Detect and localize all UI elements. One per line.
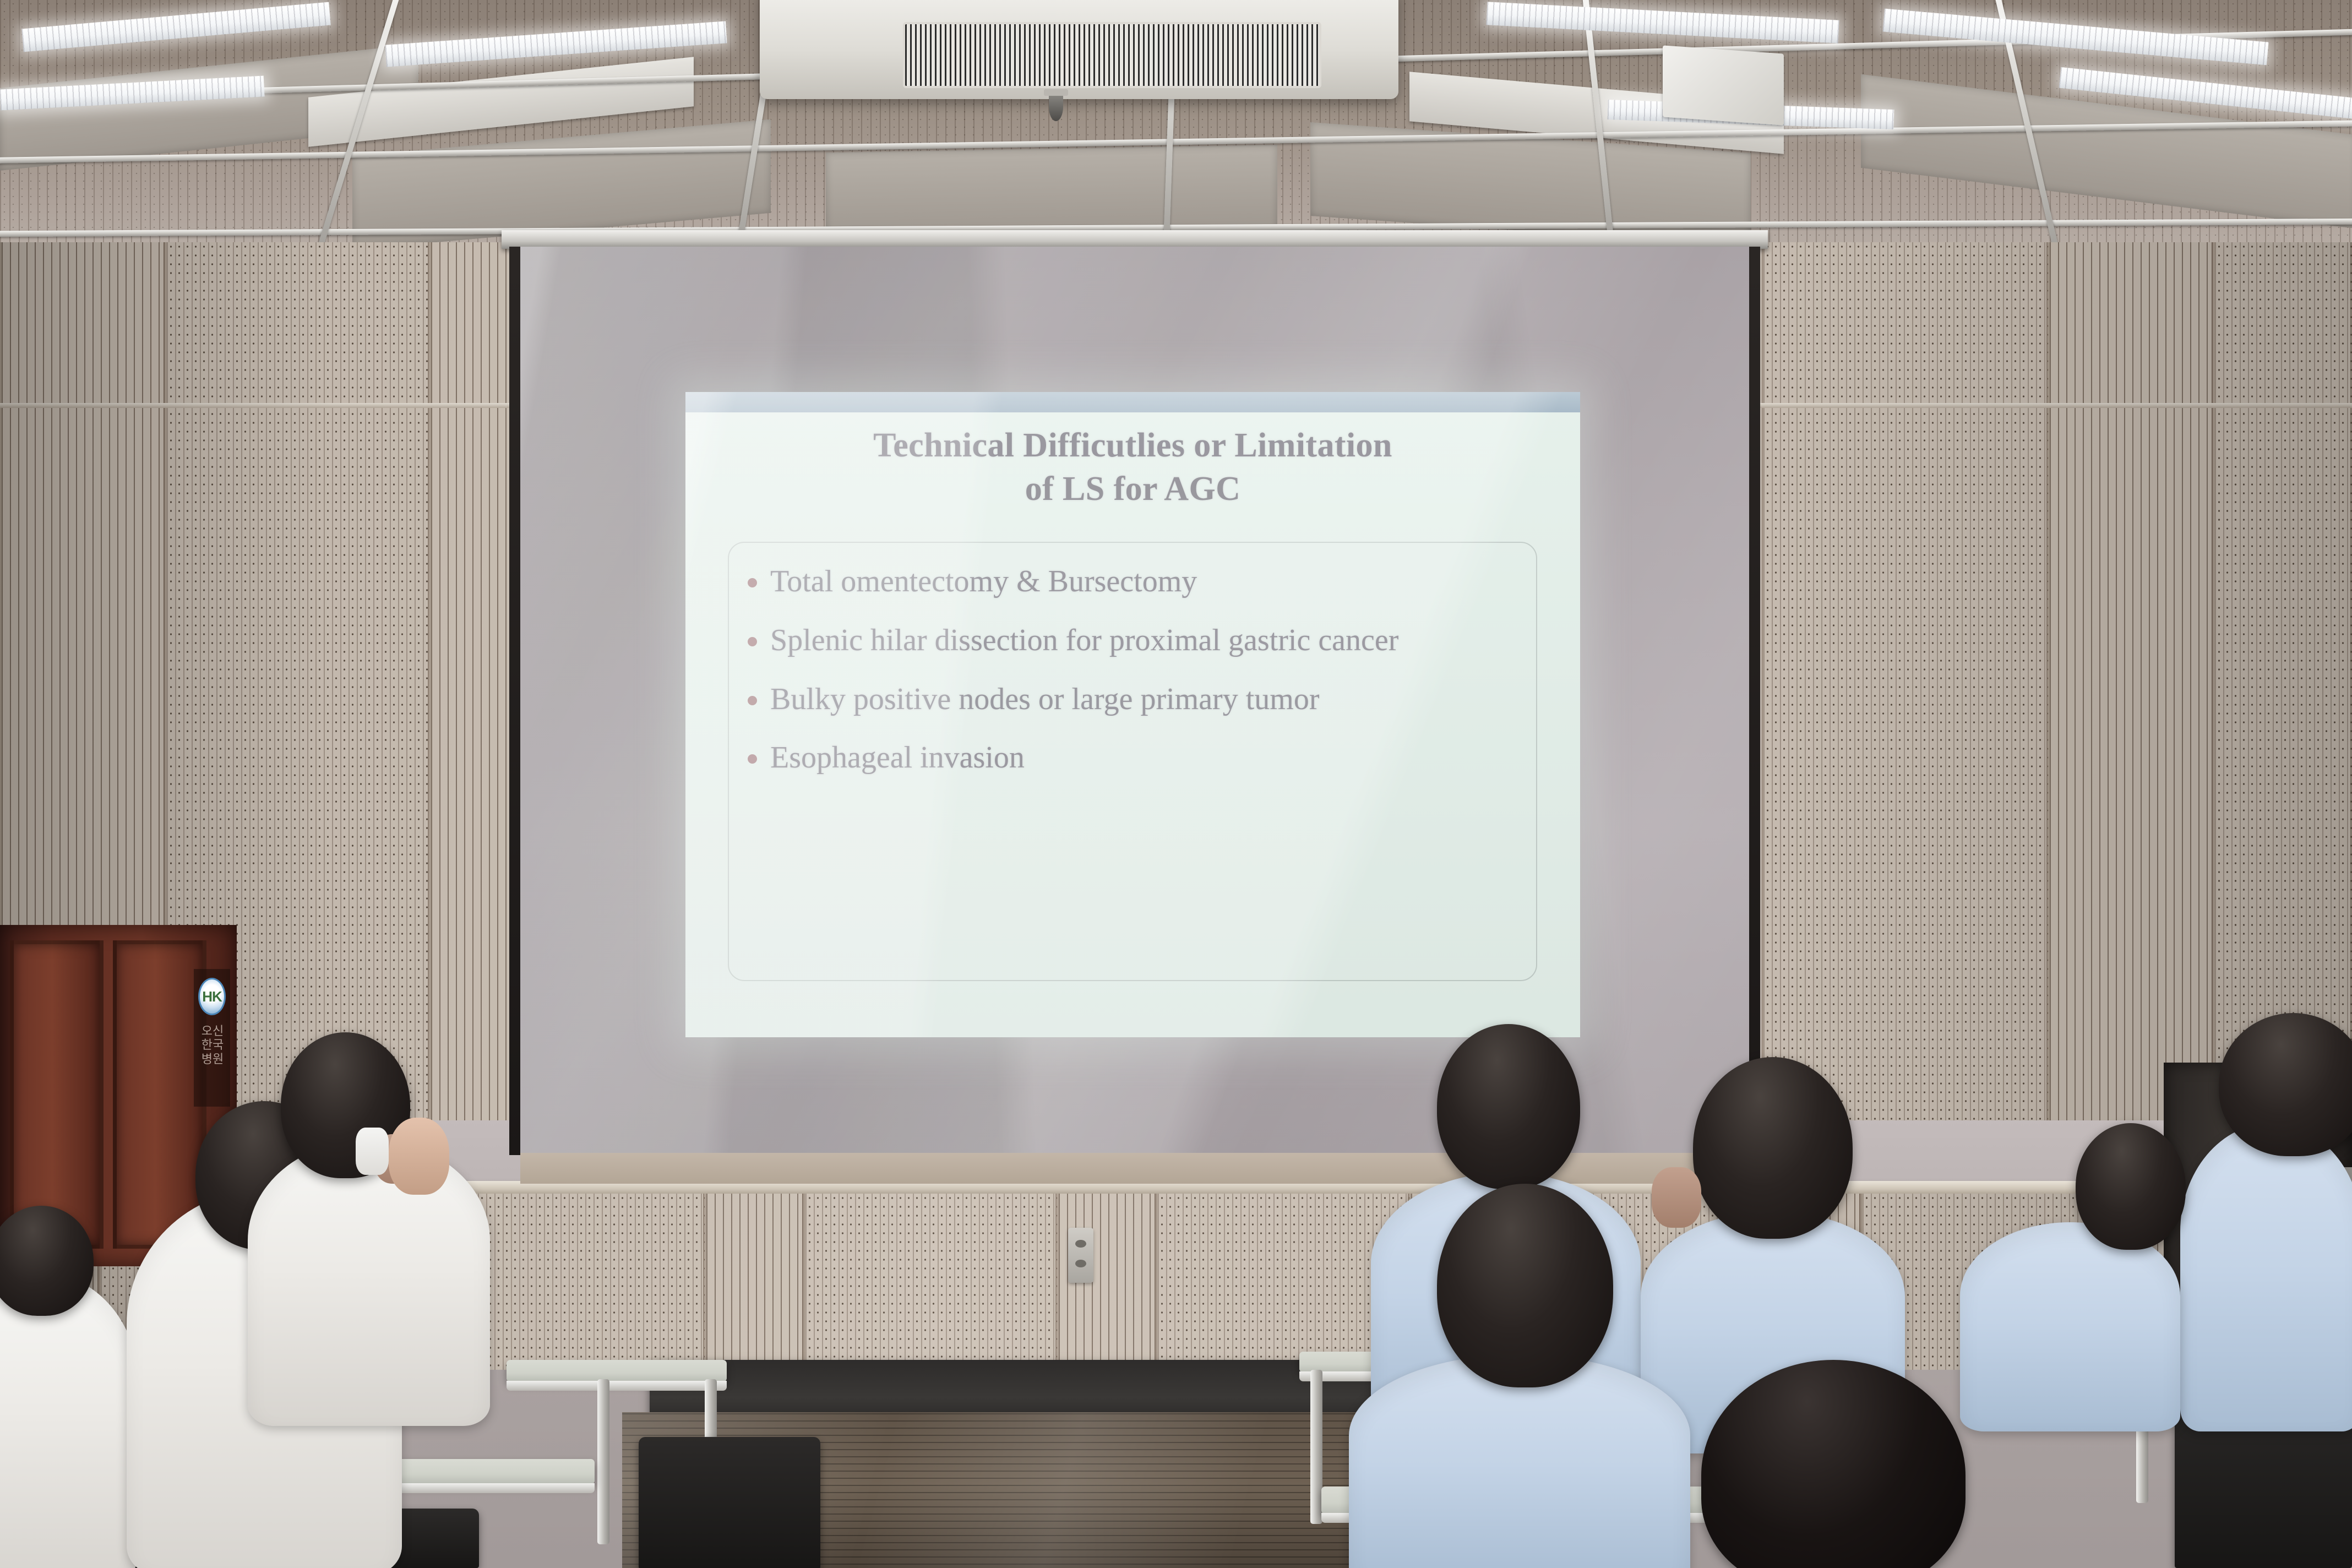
projected-slide: Technical Difficutlies or Limitation of … [685,392,1580,1037]
audience-member [0,1173,138,1568]
torso-white-coat [248,1140,490,1426]
list-item: Esophageal invasion [744,738,1513,778]
desk-leg [1310,1370,1322,1524]
audience-member [1960,1074,2180,1426]
power-outlet-icon [1068,1228,1093,1283]
slide-content-box: Total omentectomy & Bursectomy Splenic h… [728,542,1537,981]
bullet-text: Bulky positive nodes or large primary tu… [770,679,1513,720]
audience-member [2180,986,2352,1426]
audience-member [1349,1162,1690,1568]
torso-blue-shirt [1960,1222,2180,1431]
audience-member [1668,1360,2010,1568]
slide-title: Technical Difficutlies or Limitation of … [685,424,1580,511]
wainscot-perforated-panel [804,1194,1057,1370]
hand [389,1118,449,1195]
head [1701,1360,1966,1568]
ceiling-diffuser-vent [1663,45,1784,125]
sprinkler-head-icon [1049,92,1063,121]
wainscot-slat-panel [705,1194,804,1370]
wall-perforated-panel [1762,242,2048,1134]
desk [507,1360,727,1382]
projection-screen-housing [502,230,1768,249]
bullet-dot-icon [748,696,757,705]
screen-edge-right [1749,247,1760,1155]
desk-leg [597,1379,609,1544]
chair-back [639,1437,820,1568]
hospital-logo-badge: HK [198,978,226,1015]
torso-white-coat [0,1272,138,1568]
slide-bullet-list: Total omentectomy & Bursectomy Splenic h… [744,562,1513,778]
bullet-dot-icon [748,578,757,587]
list-item: Splenic hilar dissection for proximal ga… [744,620,1513,661]
bullet-dot-icon [748,754,757,764]
slide-top-band [685,392,1580,412]
ac-vent-grille-icon [903,22,1321,88]
list-item: Total omentectomy & Bursectomy [744,562,1513,602]
screen-edge-left [509,247,520,1155]
head [1437,1184,1613,1387]
head [2076,1123,2186,1250]
face-mask [356,1128,389,1175]
suspended-ceiling [0,0,2352,264]
slide-title-line-1: Technical Difficutlies or Limitation [685,424,1580,467]
bullet-dot-icon [748,637,757,646]
head [2219,1013,2352,1156]
bullet-text: Esophageal invasion [770,738,1513,778]
slide-title-line-2: of LS for AGC [685,467,1580,511]
bullet-text: Splenic hilar dissection for proximal ga… [770,620,1513,661]
lecture-hall-scene: HK 오신 한국병원 Technical Difficutlies or Lim… [0,0,2352,1568]
torso-blue-shirt [2180,1123,2352,1431]
head [0,1206,94,1316]
bullet-text: Total omentectomy & Bursectomy [770,562,1513,602]
audience-member [248,969,490,1420]
head [1693,1057,1853,1239]
list-item: Bulky positive nodes or large primary tu… [744,679,1513,720]
